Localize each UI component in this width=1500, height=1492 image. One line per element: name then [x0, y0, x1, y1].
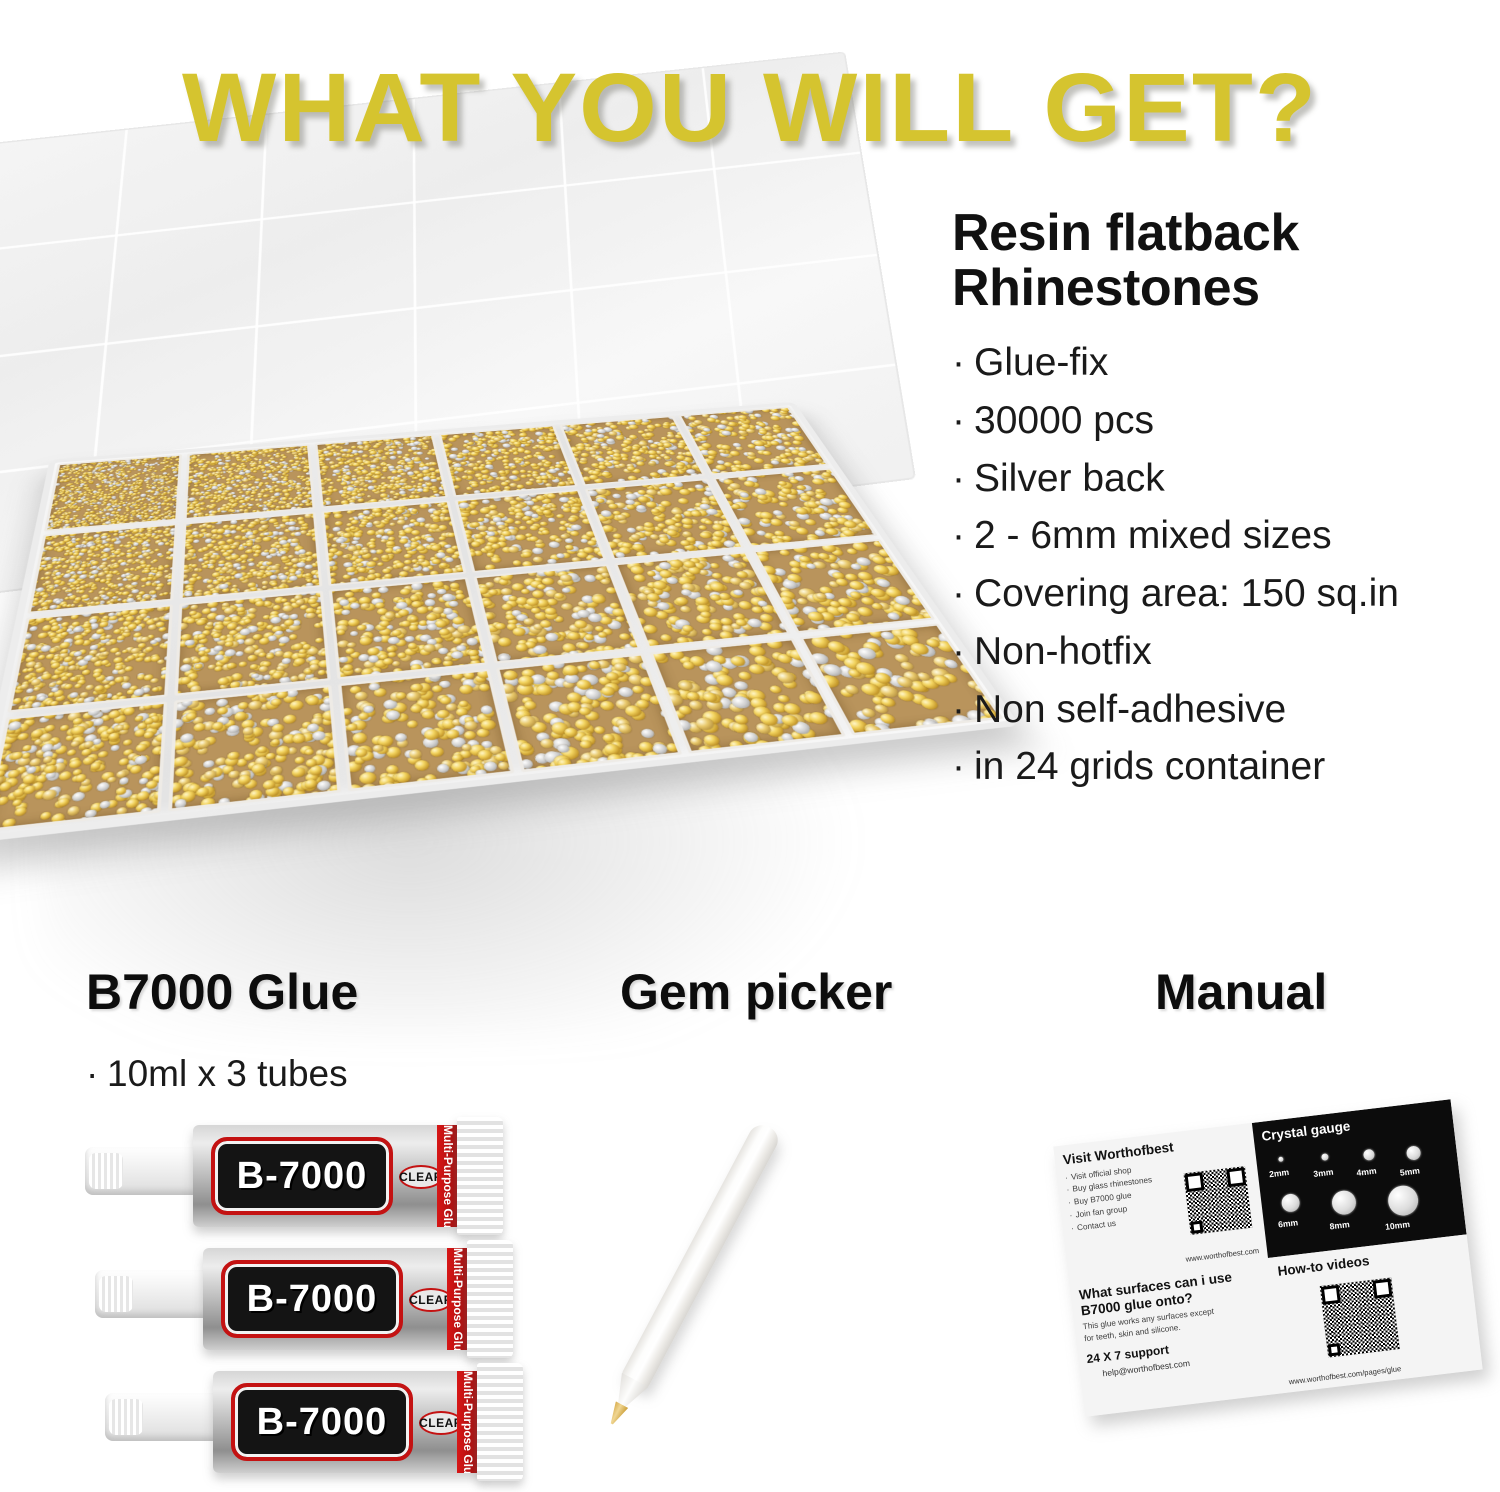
bullet-text: 30000 pcs	[974, 399, 1154, 442]
gem-size-label: 4mm	[1356, 1165, 1377, 1177]
bullet-text: 10ml x 3 tubes	[107, 1053, 348, 1094]
grid-compartment	[455, 489, 608, 573]
grid-compartment	[329, 577, 489, 679]
rhinestone-fill	[314, 434, 448, 507]
tube-purpose-text: Multi-Purpose Glue	[451, 1248, 465, 1350]
bullet-dot: ·	[952, 334, 974, 392]
tube-purpose-text: Multi-Purpose Glue	[461, 1371, 475, 1473]
list-item: ·2 - 6mm mixed sizes	[952, 507, 1500, 565]
rhinestone-fill	[455, 489, 608, 573]
tube-crimp-seal	[457, 1117, 503, 1235]
glue-tube: B-7000 CLEAR Multi-Purpose Glue 0.5 OZ /…	[105, 1363, 525, 1481]
bullet-dot: ·	[952, 565, 974, 623]
gem-size-label: 8mm	[1329, 1219, 1350, 1231]
page-title: WHAT YOU WILL GET?	[0, 52, 1500, 164]
rhinestone-fill	[321, 500, 467, 586]
glue-tube: B-7000 CLEAR Multi-Purpose Glue 0.5 OZ /…	[85, 1117, 505, 1235]
tube-body: B-7000 CLEAR Multi-Purpose Glue 0.5 OZ /…	[193, 1125, 463, 1227]
card-quadrant-gauge: Crystal gauge 2mm 3mm 4mm 5mm 6mm 8mm 10…	[1252, 1099, 1467, 1258]
spec-heading: Resin flatback Rhinestones	[952, 206, 1500, 316]
list-item: ·Glue-fix	[952, 334, 1500, 392]
bullet-dot: ·	[952, 392, 974, 450]
list-item: ·30000 pcs	[952, 392, 1500, 450]
tube-purpose-text: Multi-Purpose Glue	[441, 1125, 455, 1227]
grid-compartment	[27, 523, 178, 614]
gem-picker-pencil	[597, 1118, 787, 1428]
tube-brand-text: B-7000	[247, 1278, 378, 1321]
rhinestone-fill	[496, 653, 683, 772]
bullet-dot: ·	[952, 623, 974, 681]
card-quadrant-videos: How-to videos www.worthofbest.com/pages/…	[1268, 1234, 1483, 1393]
list-item: ·Non self-adhesive	[952, 681, 1500, 739]
grid-compartment	[314, 434, 448, 507]
rhinestone-fill	[27, 523, 178, 614]
tube-body: B-7000 CLEAR Multi-Purpose Glue 0.5 OZ /…	[203, 1248, 473, 1350]
list-item: ·Covering area: 150 sq.in	[952, 565, 1500, 623]
gem-size-label: 6mm	[1277, 1217, 1298, 1229]
gem-sample	[1281, 1192, 1301, 1212]
tube-crimp-seal	[467, 1240, 513, 1358]
section-heading-glue: B7000 Glue	[86, 963, 358, 1021]
glue-quantity-bullet: ·10ml x 3 tubes	[86, 1053, 348, 1095]
qr-code-shop[interactable]	[1183, 1166, 1252, 1235]
bullet-text: Glue-fix	[974, 341, 1108, 384]
card-quadrant-visit: Visit Worthofbest ·Visit official shop ·…	[1053, 1123, 1268, 1282]
gem-sample	[1406, 1145, 1422, 1161]
tube-brand-label: B-7000	[221, 1260, 403, 1338]
rhinestone-fill	[0, 701, 168, 832]
grid-compartment	[473, 564, 641, 663]
gem-sample	[1331, 1189, 1358, 1216]
rhinestone-fill	[329, 577, 489, 679]
product-infographic: WHAT YOU WILL GET? Resin flatback Rhines…	[0, 0, 1500, 1492]
list-item: ·Non-hotfix	[952, 623, 1500, 681]
card-quadrant-surfaces: What surfaces can i use B7000 glue onto?…	[1069, 1258, 1284, 1417]
grid-compartment	[184, 444, 315, 519]
bullet-text: Non self-adhesive	[974, 688, 1286, 731]
bullet-text: Covering area: 150 sq.in	[974, 572, 1399, 615]
section-heading-manual: Manual	[1155, 963, 1327, 1021]
gem-sample	[1386, 1183, 1419, 1216]
grid-compartment	[0, 701, 168, 832]
qr-code-videos[interactable]	[1320, 1278, 1400, 1358]
rhinestone-fill	[7, 604, 173, 712]
tube-brand-label: B-7000	[211, 1137, 393, 1215]
tube-nozzle	[95, 1270, 217, 1318]
grid-compartment	[438, 425, 578, 497]
grid-compartment	[321, 500, 467, 586]
list-item: ·in 24 grids container	[952, 738, 1500, 796]
rhinestone-fill	[180, 512, 322, 600]
grid-compartment	[496, 653, 683, 772]
bullet-dot: ·	[952, 681, 974, 739]
rhinestone-fill	[338, 668, 515, 791]
manual-card: Visit Worthofbest ·Visit official shop ·…	[1053, 1099, 1482, 1416]
grid-compartment	[180, 512, 322, 600]
list-item: ·Silver back	[952, 450, 1500, 508]
bullet-dot: ·	[86, 1053, 107, 1095]
gem-size-label: 10mm	[1384, 1219, 1410, 1232]
bullet-dot: ·	[952, 738, 974, 796]
bullet-dot: ·	[952, 450, 974, 508]
spec-heading-line1: Resin flatback	[952, 204, 1299, 262]
rhinestone-spec-list: Resin flatback Rhinestones ·Glue-fix ·30…	[952, 206, 1500, 796]
gem-sample	[1321, 1153, 1329, 1161]
bullet-text: Non-hotfix	[974, 630, 1152, 673]
bullet-text: 2 - 6mm mixed sizes	[974, 514, 1332, 557]
spec-bullets: ·Glue-fix ·30000 pcs ·Silver back ·2 - 6…	[952, 334, 1500, 796]
gem-sample	[1278, 1156, 1284, 1162]
tube-brand-text: B-7000	[257, 1401, 388, 1444]
rhinestone-fill	[473, 564, 641, 663]
grid-compartment	[169, 684, 341, 811]
bullet-dot: ·	[952, 507, 974, 565]
grid-compartment	[44, 454, 182, 531]
rhinestone-fill	[169, 684, 341, 811]
rhinestone-fill	[184, 444, 315, 519]
gem-sample	[1363, 1148, 1375, 1160]
tube-nozzle	[85, 1147, 207, 1195]
tube-crimp-seal	[477, 1363, 523, 1481]
tube-brand-label: B-7000	[231, 1383, 413, 1461]
glue-tube: B-7000 CLEAR Multi-Purpose Glue 0.5 OZ /…	[95, 1240, 515, 1358]
grid-compartment	[338, 668, 515, 791]
tube-body: B-7000 CLEAR Multi-Purpose Glue 0.5 OZ /…	[213, 1371, 483, 1473]
bullet-text: Silver back	[974, 457, 1165, 500]
rhinestone-storage-box	[0, 175, 955, 915]
bullet-text: in 24 grids container	[974, 745, 1325, 788]
rhinestone-fill	[175, 590, 331, 695]
spec-heading-line2: Rhinestones	[952, 259, 1260, 317]
rhinestone-fill	[44, 454, 182, 531]
gem-size-label: 3mm	[1313, 1166, 1334, 1178]
tube-brand-text: B-7000	[237, 1155, 368, 1198]
grid-compartment	[175, 590, 331, 695]
gem-size-label: 5mm	[1399, 1165, 1420, 1177]
videos-url: www.worthofbest.com/pages/glue	[1288, 1364, 1401, 1386]
grid-compartment	[7, 604, 173, 712]
section-heading-gem-picker: Gem picker	[620, 963, 892, 1021]
picker-shaft	[621, 1120, 783, 1388]
rhinestone-fill	[438, 425, 578, 497]
gem-size-label: 2mm	[1268, 1166, 1289, 1178]
tube-nozzle	[105, 1393, 227, 1441]
